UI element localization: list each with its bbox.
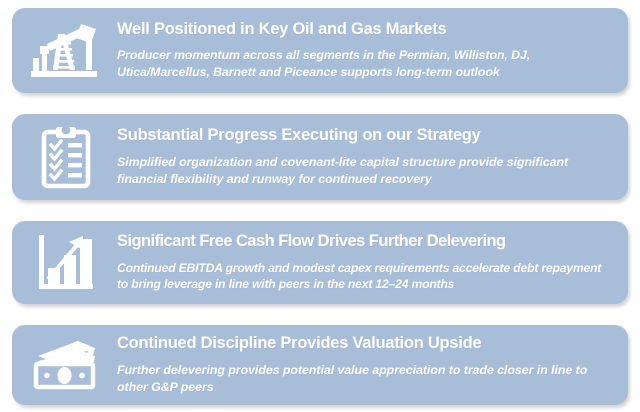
panel-text-block: Substantial Progress Executing on our St…	[117, 126, 628, 188]
bar-chart-growth-icon	[12, 221, 117, 305]
highlight-panel-strategy-progress: Substantial Progress Executing on our St…	[12, 114, 628, 199]
panel-text-block: Significant Free Cash Flow Drives Furthe…	[117, 232, 628, 293]
panel-text-block: Well Positioned in Key Oil and Gas Marke…	[117, 20, 628, 82]
highlight-panel-oil-gas-markets: Well Positioned in Key Oil and Gas Marke…	[12, 8, 628, 93]
panel-title: Well Positioned in Key Oil and Gas Marke…	[117, 20, 610, 38]
panel-text-block: Continued Discipline Provides Valuation …	[117, 334, 628, 396]
cash-banknotes-icon	[12, 325, 117, 405]
clipboard-checklist-icon	[12, 114, 117, 199]
panel-title: Significant Free Cash Flow Drives Furthe…	[117, 232, 610, 250]
panel-body: Simplified organization and covenant-lit…	[117, 154, 610, 188]
panel-body: Further delevering provides potential va…	[117, 362, 610, 396]
panel-body: Producer momentum across all segments in…	[117, 47, 610, 81]
panel-title: Substantial Progress Executing on our St…	[117, 126, 610, 144]
highlight-panel-free-cash-flow: Significant Free Cash Flow Drives Furthe…	[12, 221, 628, 305]
highlights-panel-list: Well Positioned in Key Oil and Gas Marke…	[0, 0, 640, 412]
highlight-panel-valuation-upside: Continued Discipline Provides Valuation …	[12, 325, 628, 405]
oil-pumpjack-icon	[12, 8, 117, 93]
panel-title: Continued Discipline Provides Valuation …	[117, 334, 610, 352]
panel-body: Continued EBITDA growth and modest capex…	[117, 260, 610, 294]
